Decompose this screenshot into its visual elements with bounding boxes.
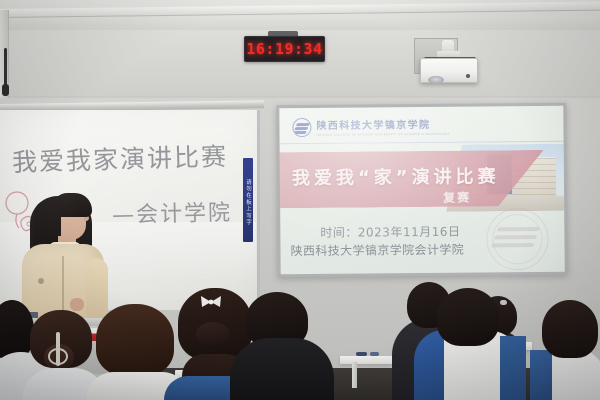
classroom-photo: 16:19:34 我爱我家演讲比赛 —会计学院 请勿在板上写字 陕西科技大学镐京… [0, 0, 600, 400]
student-head [437, 288, 499, 346]
student-desk [340, 356, 392, 364]
projector-lens-icon [428, 76, 444, 84]
projector-indicator-led [466, 74, 470, 78]
slide-header-divider [280, 141, 564, 144]
university-seal-watermark [486, 208, 549, 271]
speaker-arm [86, 258, 108, 318]
university-crest-icon [292, 117, 311, 136]
whiteboard-handwriting-title: 我爱我家演讲比赛 [12, 137, 229, 179]
slide-logo-cn: 陕西科技大学镐京学院 [316, 116, 449, 132]
slide-title: 我爱我“家”演讲比赛 [292, 162, 500, 190]
desk-pen [356, 352, 367, 356]
whiteboard-warning-sticker: 请勿在板上写字 [243, 158, 253, 242]
speaker-hand [70, 298, 84, 311]
hair-pin-icon [500, 300, 507, 305]
slide-logo: 陕西科技大学镐京学院 HAOJING COLLEGE OF SHAANXI UN… [292, 116, 450, 137]
whiteboard-handwriting-subtitle: —会计学院 [112, 195, 233, 230]
student-uniform-stripe [500, 336, 526, 400]
student-head [96, 304, 174, 376]
speaker-jacket-badge [38, 278, 44, 284]
hair-bow-icon [198, 294, 224, 310]
desk-pen [370, 352, 379, 356]
clock-time-display: 16:19:34 [246, 40, 322, 58]
student-head [542, 300, 598, 358]
slide-logo-en: HAOJING COLLEGE OF SHAANXI UNIVERSITY OF… [316, 132, 449, 137]
student-hair-bun [196, 322, 230, 346]
desk-leg [352, 362, 357, 388]
projected-slide: 陕西科技大学镐京学院 HAOJING COLLEGE OF SHAANXI UN… [279, 106, 564, 274]
hair-stick-icon [56, 332, 60, 366]
wall-digital-clock: 16:19:34 [244, 36, 325, 62]
projection-screen-frame: 陕西科技大学镐京学院 HAOJING COLLEGE OF SHAANXI UN… [276, 103, 567, 278]
seal-inner-ring [492, 214, 542, 264]
slide-org-line: 陕西科技大学镐京学院会计学院 [290, 241, 464, 260]
student-uniform-stripe [530, 350, 552, 400]
list-item [230, 338, 334, 400]
slide-subtitle: 复赛 [443, 189, 471, 206]
slide-date-line: 时间：2023年11月16日 [320, 223, 460, 241]
cord-weight [2, 84, 9, 96]
slide-logo-text: 陕西科技大学镐京学院 HAOJING COLLEGE OF SHAANXI UN… [316, 116, 450, 137]
